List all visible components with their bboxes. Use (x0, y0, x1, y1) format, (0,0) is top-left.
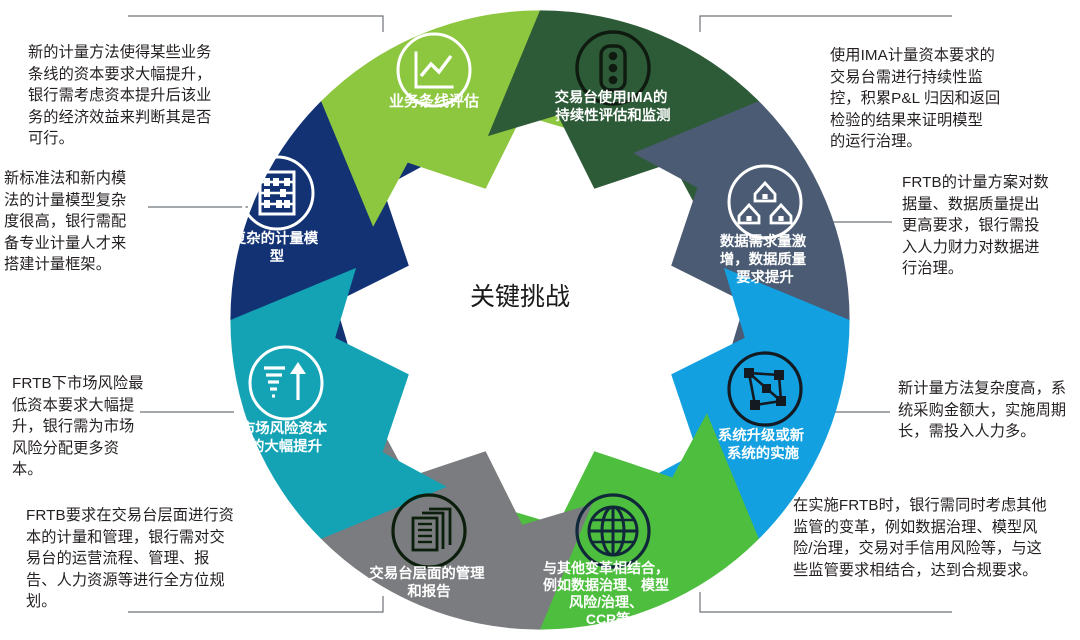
callout-complex-models: 新标准法和新内模 法的计量模型复杂 度很高，银行需配 备专业计量人才来 搭建计量… (4, 168, 174, 276)
callout-market-risk-capital: FRTB下市场风险最 低资本要求大幅提 升，银行需为市场 风险分配更多资 本。 (12, 373, 182, 481)
segment-group (209, 0, 872, 640)
leader-line-business-line (128, 16, 383, 32)
callout-business-line-assessment: 新的计量方法使得某些业务 条线的资本要求大幅提升， 银行需考虑资本提升后该业 务… (28, 42, 268, 150)
infographic-stage: 业务条线评估 交易台使用IMA的 持续性评估和监测 数据需求量激 增，数据质量 … (0, 0, 1080, 640)
callout-system-upgrade: 新计量方法复杂度高，系 统采购金额大，实施周期 长，需投入人力多。 (898, 378, 1078, 443)
callout-ima-desk-monitoring: 使用IMA计量资本要求的 交易台需进行持续性监 控，积累P&L 归因和返回 检验… (830, 45, 1060, 153)
leader-line-other-reforms (700, 592, 952, 612)
segment-label-business-line-assessment: 业务条线评估 (389, 92, 479, 110)
callout-other-reforms: 在实施FRTB时，银行需同时考虑其他 监管的变革，例如数据治理、模型风 险/治理… (793, 495, 1080, 581)
globe-icon (577, 495, 649, 567)
center-title: 关键挑战 (470, 283, 570, 311)
callout-data-demand-quality: FRTB的计量方案对数 据量、数据质量提出 更高要求，银行需投 入人力财力对数据… (902, 172, 1080, 280)
leader-line-ima-monitoring (700, 16, 952, 32)
callout-desk-level-management: FRTB要求在交易台层面进行资 本的计量和管理，银行需对交 易台的运营流程、管理… (26, 505, 278, 613)
